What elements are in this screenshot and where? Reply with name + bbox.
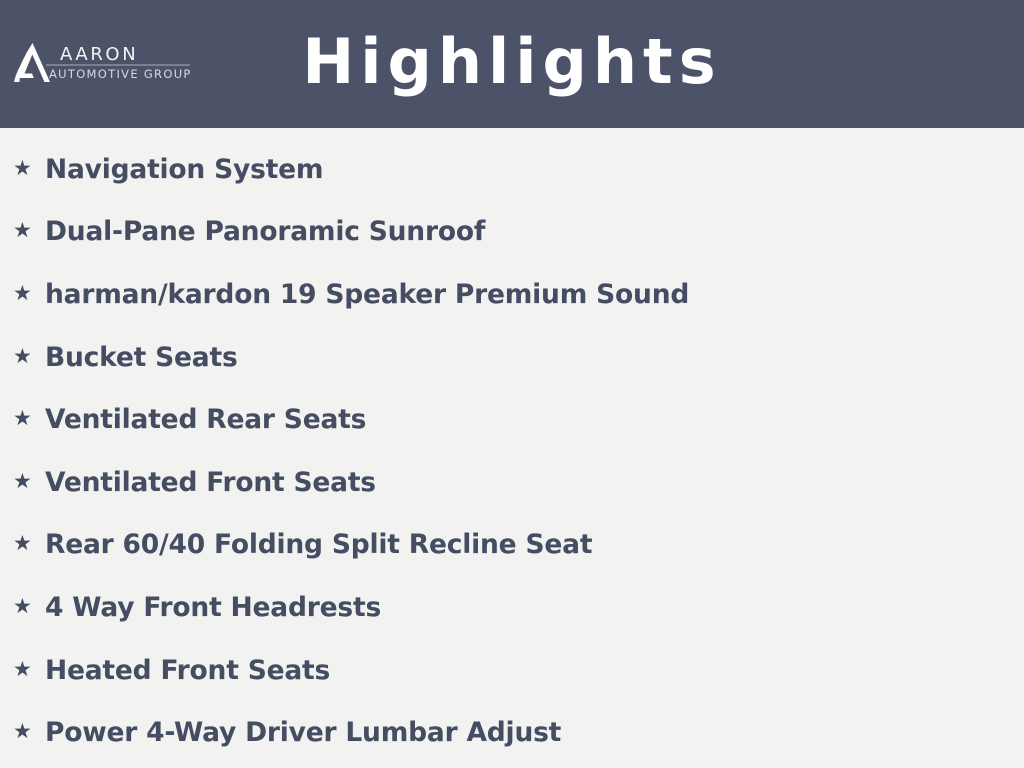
highlight-label: Rear 60/40 Folding Split Recline Seat: [45, 529, 592, 560]
star-bullet-icon: ★: [13, 220, 45, 241]
list-item: ★ 4 Way Front Headrests: [0, 576, 1024, 639]
star-bullet-icon: ★: [13, 659, 45, 680]
star-bullet-icon: ★: [13, 158, 45, 179]
slide-header: AARON AUTOMOTIVE GROUP Highlights: [0, 0, 1024, 128]
star-bullet-icon: ★: [13, 596, 45, 617]
highlight-label: Heated Front Seats: [45, 655, 330, 686]
star-bullet-icon: ★: [13, 471, 45, 492]
highlight-label: 4 Way Front Headrests: [45, 592, 381, 623]
highlight-label: Navigation System: [45, 154, 323, 185]
list-item: ★ Power 4-Way Driver Lumbar Adjust: [0, 701, 1024, 764]
highlight-label: Power 4-Way Driver Lumbar Adjust: [45, 717, 561, 748]
list-item: ★ Rear 60/40 Folding Split Recline Seat: [0, 514, 1024, 577]
star-bullet-icon: ★: [13, 721, 45, 742]
highlight-label: Bucket Seats: [45, 342, 238, 373]
list-item: ★ Ventilated Rear Seats: [0, 388, 1024, 451]
highlight-label: harman/kardon 19 Speaker Premium Sound: [45, 279, 689, 310]
star-bullet-icon: ★: [13, 533, 45, 554]
list-item: ★ harman/kardon 19 Speaker Premium Sound: [0, 263, 1024, 326]
list-item: ★ Heated Front Seats: [0, 639, 1024, 702]
list-item: ★ Ventilated Front Seats: [0, 451, 1024, 514]
list-item: ★ Bucket Seats: [0, 326, 1024, 389]
page-title: Highlights: [0, 0, 1024, 128]
highlight-label: Ventilated Front Seats: [45, 467, 376, 498]
list-item: ★ Dual-Pane Panoramic Sunroof: [0, 201, 1024, 264]
highlights-slide: AARON AUTOMOTIVE GROUP Highlights ★ Navi…: [0, 0, 1024, 768]
highlight-label: Ventilated Rear Seats: [45, 404, 366, 435]
star-bullet-icon: ★: [13, 408, 45, 429]
highlight-label: Dual-Pane Panoramic Sunroof: [45, 216, 485, 247]
list-item: ★ Navigation System: [0, 138, 1024, 201]
star-bullet-icon: ★: [13, 346, 45, 367]
star-bullet-icon: ★: [13, 283, 45, 304]
highlights-list: ★ Navigation System ★ Dual-Pane Panorami…: [0, 128, 1024, 768]
